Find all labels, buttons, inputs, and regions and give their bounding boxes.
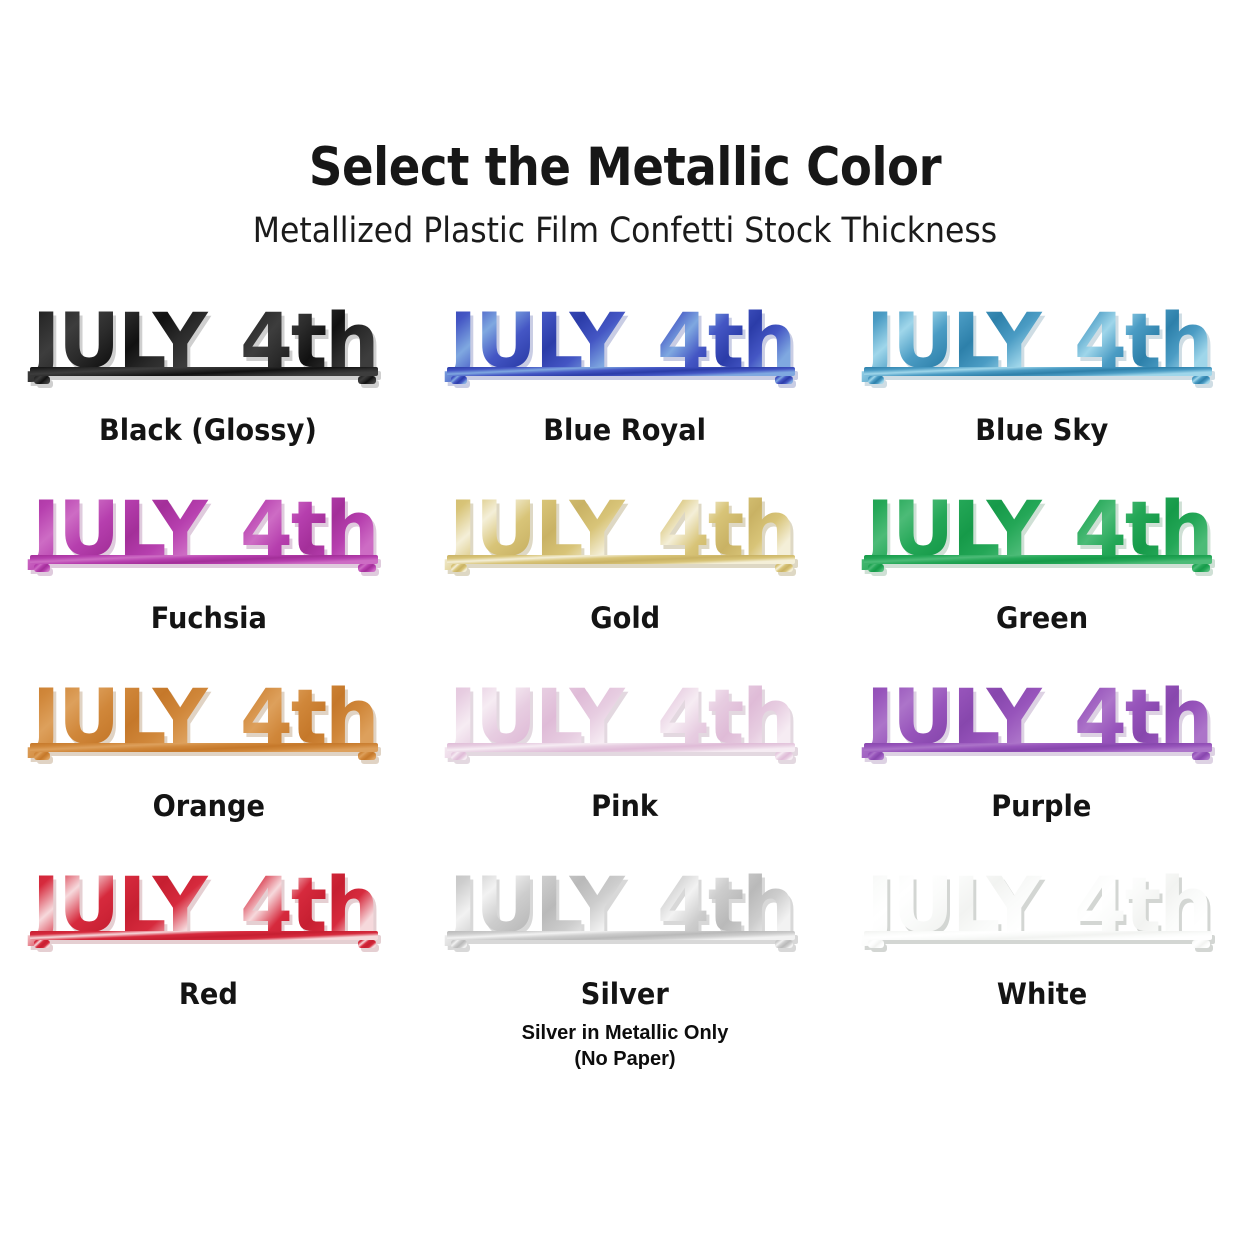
july-4th-glyph-green: JULY4thJULY4th [862, 493, 1222, 585]
july-4th-glyph-orange: JULY4thJULY4th [28, 681, 388, 773]
july-4th-artwork-green: JULY4thJULY4th [862, 493, 1222, 585]
july-4th-artwork-orange: JULY4thJULY4th [28, 681, 388, 773]
swatch-note-line-2: (No Paper) [522, 1047, 729, 1073]
july-4th-glyph-red: JULY4thJULY4th [28, 869, 388, 961]
july-4th-glyph-purple: JULY4thJULY4th [862, 681, 1222, 773]
july-4th-artwork-purple: JULY4thJULY4th [862, 681, 1222, 773]
july-4th-glyph-blue-royal: JULY4thJULY4th [445, 305, 805, 397]
color-swatch-red[interactable]: JULY4thJULY4thRed [0, 869, 417, 1057]
color-swatch-orange[interactable]: JULY4thJULY4thOrange [0, 681, 417, 869]
july-4th-glyph-silver: JULY4thJULY4th [445, 869, 805, 961]
july-4th-glyph-black-glossy: JULY4thJULY4th [28, 305, 388, 397]
swatch-label-white: White [996, 977, 1086, 1011]
swatch-label-green: Green [996, 601, 1088, 635]
page-subtitle: Metallized Plastic Film Confetti Stock T… [63, 212, 1188, 251]
swatch-label-blue-royal: Blue Royal [544, 413, 707, 447]
july-4th-glyph-white: JULY4thJULY4th [862, 869, 1222, 961]
swatch-label-blue-sky: Blue Sky [975, 413, 1108, 447]
page-header: Select the Metallic Color Metallized Pla… [0, 0, 1250, 250]
july-4th-glyph-blue-sky: JULY4thJULY4th [862, 305, 1222, 397]
color-swatch-green[interactable]: JULY4thJULY4thGreen [833, 493, 1250, 681]
july-4th-artwork-pink: JULY4thJULY4th [445, 681, 805, 773]
july-4th-artwork-blue-royal: JULY4thJULY4th [445, 305, 805, 397]
swatch-label-red: Red [179, 977, 238, 1011]
july-4th-artwork-red: JULY4thJULY4th [28, 869, 388, 961]
swatch-label-orange: Orange [152, 789, 264, 823]
swatch-label-fuchsia: Fuchsia [150, 601, 266, 635]
july-4th-glyph-pink: JULY4thJULY4th [445, 681, 805, 773]
color-swatch-silver[interactable]: JULY4thJULY4thSilverSilver in Metallic O… [417, 869, 834, 1057]
july-4th-artwork-fuchsia: JULY4thJULY4th [28, 493, 388, 585]
swatch-label-purple: Purple [992, 789, 1092, 823]
color-swatch-blue-royal[interactable]: JULY4thJULY4thBlue Royal [417, 305, 834, 493]
color-swatch-purple[interactable]: JULY4thJULY4thPurple [833, 681, 1250, 869]
metallic-color-selector-page: Select the Metallic Color Metallized Pla… [0, 0, 1250, 1250]
july-4th-glyph-gold: JULY4thJULY4th [445, 493, 805, 585]
swatch-note-silver: Silver in Metallic Only(No Paper) [522, 1021, 729, 1072]
july-4th-artwork-white: JULY4thJULY4th [862, 869, 1222, 961]
july-4th-artwork-blue-sky: JULY4thJULY4th [862, 305, 1222, 397]
page-title: Select the Metallic Color [75, 140, 1175, 196]
swatch-label-black-glossy: Black (Glossy) [99, 413, 317, 447]
color-swatch-blue-sky[interactable]: JULY4thJULY4thBlue Sky [833, 305, 1250, 493]
swatch-label-pink: Pink [592, 789, 659, 823]
color-swatch-grid: JULY4thJULY4thBlack (Glossy)JULY4thJULY4… [0, 305, 1250, 1057]
color-swatch-gold[interactable]: JULY4thJULY4thGold [417, 493, 834, 681]
july-4th-artwork-gold: JULY4thJULY4th [445, 493, 805, 585]
swatch-label-gold: Gold [590, 601, 660, 635]
color-swatch-white[interactable]: JULY4thJULY4thWhite [833, 869, 1250, 1057]
color-swatch-pink[interactable]: JULY4thJULY4thPink [417, 681, 834, 869]
color-swatch-fuchsia[interactable]: JULY4thJULY4thFuchsia [0, 493, 417, 681]
july-4th-artwork-silver: JULY4thJULY4th [445, 869, 805, 961]
july-4th-artwork-black-glossy: JULY4thJULY4th [28, 305, 388, 397]
july-4th-glyph-fuchsia: JULY4thJULY4th [28, 493, 388, 585]
swatch-note-line-1: Silver in Metallic Only [522, 1021, 729, 1047]
swatch-label-silver: Silver [581, 977, 669, 1011]
color-swatch-black-glossy[interactable]: JULY4thJULY4thBlack (Glossy) [0, 305, 417, 493]
